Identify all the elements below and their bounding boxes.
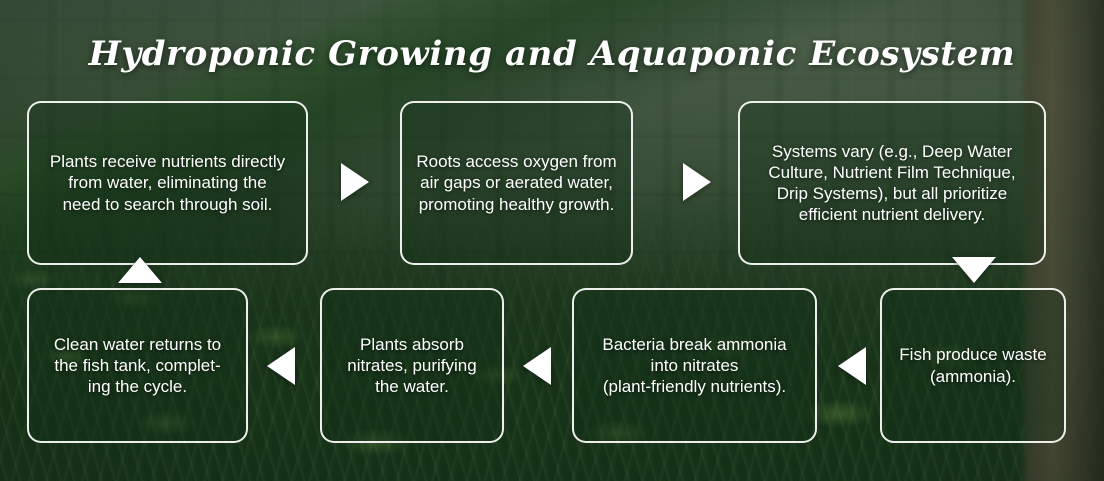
flow-step-box-4: Clean water returns to the fish tank, co…	[27, 288, 248, 443]
flow-step-text: Plants receive nutrients directly from w…	[50, 151, 285, 215]
flow-step-box-5: Plants absorb nitrates, purifying the wa…	[320, 288, 504, 443]
flow-step-box-6: Bacteria break ammonia into nitrates (pl…	[572, 288, 817, 443]
flow-step-text: Clean water returns to the fish tank, co…	[54, 334, 221, 398]
flow-step-box-2: Roots access oxygen from air gaps or aer…	[400, 101, 633, 265]
flow-step-text: Bacteria break ammonia into nitrates (pl…	[602, 334, 786, 398]
infographic-canvas: Hydroponic Growing and Aquaponic Ecosyst…	[0, 0, 1104, 481]
arrow-right-icon	[341, 163, 369, 201]
arrow-up-icon	[118, 257, 162, 283]
flow-step-text: Systems vary (e.g., Deep Water Culture, …	[768, 141, 1015, 226]
page-title: Hydroponic Growing and Aquaponic Ecosyst…	[0, 34, 1104, 74]
flow-step-box-1: Plants receive nutrients directly from w…	[27, 101, 308, 265]
flow-step-box-7: Fish produce waste (ammonia).	[880, 288, 1066, 443]
flow-step-text: Plants absorb nitrates, purifying the wa…	[347, 334, 476, 398]
flow-step-box-3: Systems vary (e.g., Deep Water Culture, …	[738, 101, 1046, 265]
arrow-down-icon	[952, 257, 996, 283]
flow-step-text: Fish produce waste (ammonia).	[899, 344, 1046, 387]
arrow-right-icon	[683, 163, 711, 201]
arrow-left-icon	[523, 347, 551, 385]
arrow-left-icon	[267, 347, 295, 385]
arrow-left-icon	[838, 347, 866, 385]
flow-step-text: Roots access oxygen from air gaps or aer…	[416, 151, 616, 215]
